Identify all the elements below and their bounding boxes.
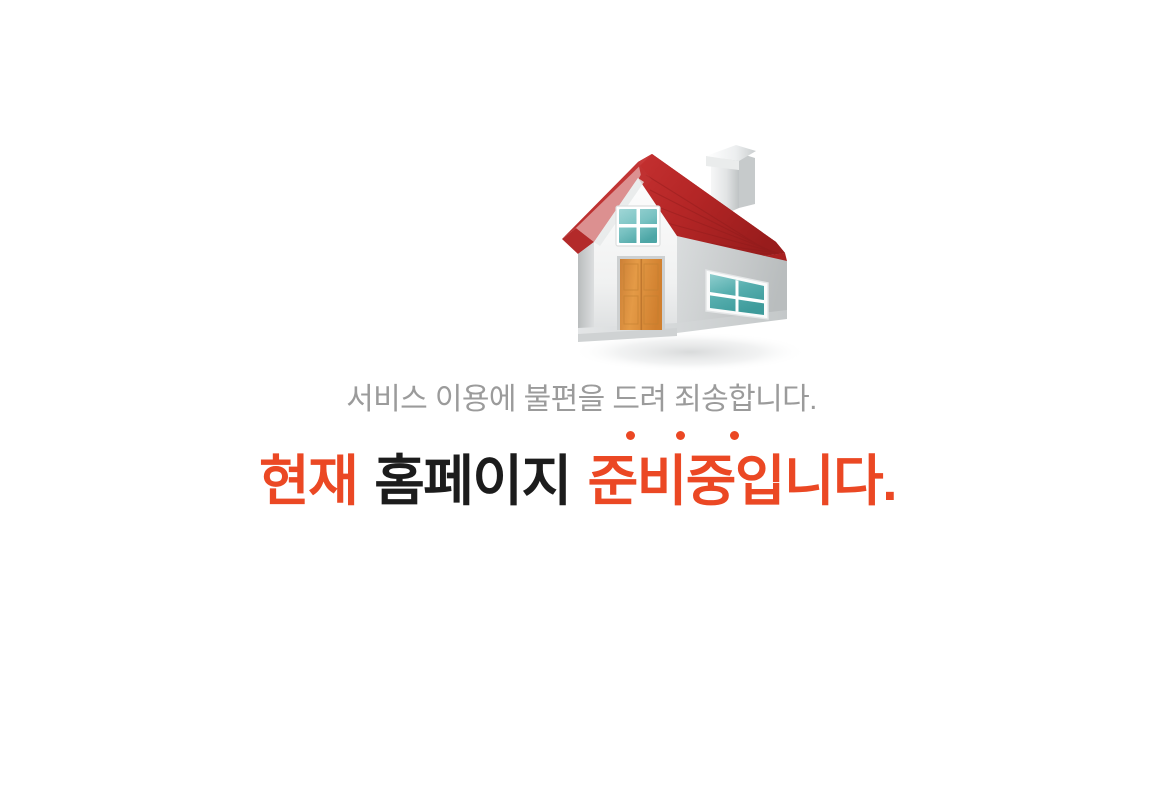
headline-part-now: 현재 [259, 450, 357, 512]
emphasis-dot-2 [676, 431, 685, 440]
headline: 현재홈페이지준비중입니다. [259, 448, 896, 514]
headline-part-homepage: 홈페이지 [374, 450, 570, 512]
emphasis-dot-3 [730, 431, 739, 440]
front-door [617, 256, 665, 330]
emphasis-dot-1 [626, 431, 635, 440]
house-icon [540, 120, 840, 385]
house-left-wall [578, 242, 594, 334]
house-illustration [540, 120, 840, 385]
apology-subtitle: 서비스 이용에 불편을 드려 죄송합니다. [0, 378, 1155, 422]
message-block: 서비스 이용에 불편을 드려 죄송합니다. 현재홈페이지준비중입니다. [0, 378, 1155, 514]
emphasis-dots [626, 431, 746, 441]
headline-part-preparing: 준비중입니다. [588, 450, 896, 512]
front-window [616, 206, 660, 246]
page-root: 서비스 이용에 불편을 드려 죄송합니다. 현재홈페이지준비중입니다. [0, 0, 1155, 799]
